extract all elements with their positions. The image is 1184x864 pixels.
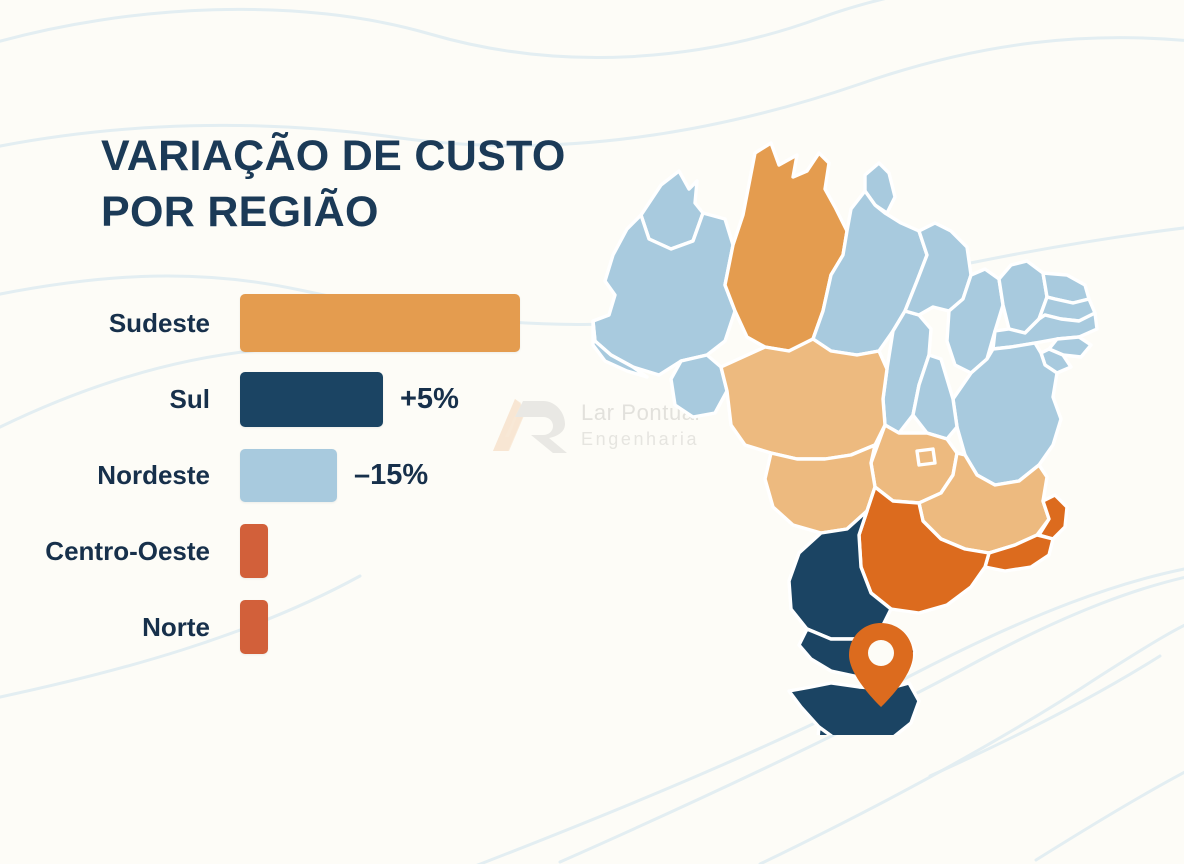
- bar-label-wrap: Sul: [0, 361, 225, 437]
- bar-sudeste[interactable]: [240, 294, 520, 352]
- bar-track: [240, 589, 285, 665]
- bar-track: +5%: [240, 361, 459, 437]
- brazil-regions-map[interactable]: [575, 115, 1175, 735]
- page-title: VARIAÇÃO DE CUSTO POR REGIÃO: [101, 128, 641, 240]
- bar-track: [240, 285, 537, 361]
- bar-value-label: –15%: [354, 459, 428, 492]
- map-state-mato-grosso[interactable]: [721, 339, 887, 459]
- bar-label-wrap: Sudeste: [0, 285, 225, 361]
- bar-row: Nordeste –15%: [0, 437, 560, 513]
- map-state-rio-grande-do-sul[interactable]: [789, 683, 919, 735]
- bar-track: –15%: [240, 437, 428, 513]
- bar-sul[interactable]: [240, 372, 383, 427]
- bar-track: [240, 513, 285, 589]
- bar-value-label: +5%: [400, 383, 459, 416]
- bar-row: Sul +5%: [0, 361, 560, 437]
- bar-label-wrap: Centro-Oeste: [0, 513, 225, 589]
- bar-row: Sudeste: [0, 285, 560, 361]
- bar-chart: Sudeste Sul +5% Nordeste –15%: [0, 285, 560, 665]
- map-state-rondonia[interactable]: [671, 355, 727, 417]
- bar-row: Norte: [0, 589, 560, 665]
- bar-category-label: Sudeste: [109, 308, 210, 339]
- bar-category-label: Centro-Oeste: [45, 536, 210, 567]
- infographic-canvas: VARIAÇÃO DE CUSTO POR REGIÃO Sudeste Sul…: [0, 0, 1184, 864]
- bar-category-label: Nordeste: [97, 460, 210, 491]
- bar-category-label: Sul: [170, 384, 210, 415]
- bar-label-wrap: Norte: [0, 589, 225, 665]
- bar-row: Centro-Oeste: [0, 513, 560, 589]
- bar-label-wrap: Nordeste: [0, 437, 225, 513]
- bar-category-label: Norte: [142, 612, 210, 643]
- bar-norte[interactable]: [240, 600, 268, 654]
- bar-nordeste[interactable]: [240, 449, 337, 502]
- map-district-federal[interactable]: [917, 449, 935, 465]
- bar-centro-oeste[interactable]: [240, 524, 268, 578]
